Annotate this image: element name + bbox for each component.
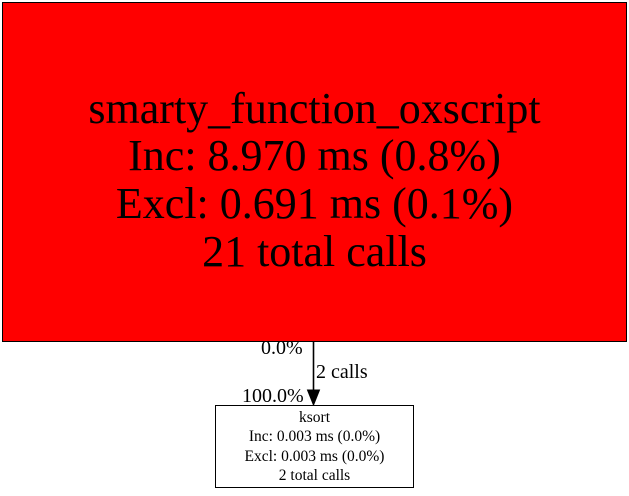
graph-node-ksort[interactable]: ksort Inc: 0.003 ms (0.0%) Excl: 0.003 m…: [215, 405, 414, 488]
node-title: smarty_function_oxscript: [88, 85, 540, 133]
node-total-calls: 21 total calls: [202, 228, 427, 276]
edge-arrowhead: [308, 390, 320, 405]
node-exclusive-time: Excl: 0.691 ms (0.1%): [116, 180, 513, 228]
call-graph-canvas: smarty_function_oxscript Inc: 8.970 ms (…: [0, 0, 629, 496]
edge-head-percentage-label: 100.0%: [242, 386, 304, 406]
graph-node-smarty-function-oxscript[interactable]: smarty_function_oxscript Inc: 8.970 ms (…: [2, 2, 627, 342]
edge-tail-percentage-label: 0.0%: [261, 338, 303, 358]
edge-call-count-label: 2 calls: [316, 362, 368, 382]
node-inclusive-time: Inc: 0.003 ms (0.0%): [249, 427, 380, 446]
node-exclusive-time: Excl: 0.003 ms (0.0%): [245, 447, 385, 466]
node-title: ksort: [299, 408, 330, 427]
node-inclusive-time: Inc: 8.970 ms (0.8%): [128, 132, 501, 180]
node-total-calls: 2 total calls: [279, 466, 350, 485]
